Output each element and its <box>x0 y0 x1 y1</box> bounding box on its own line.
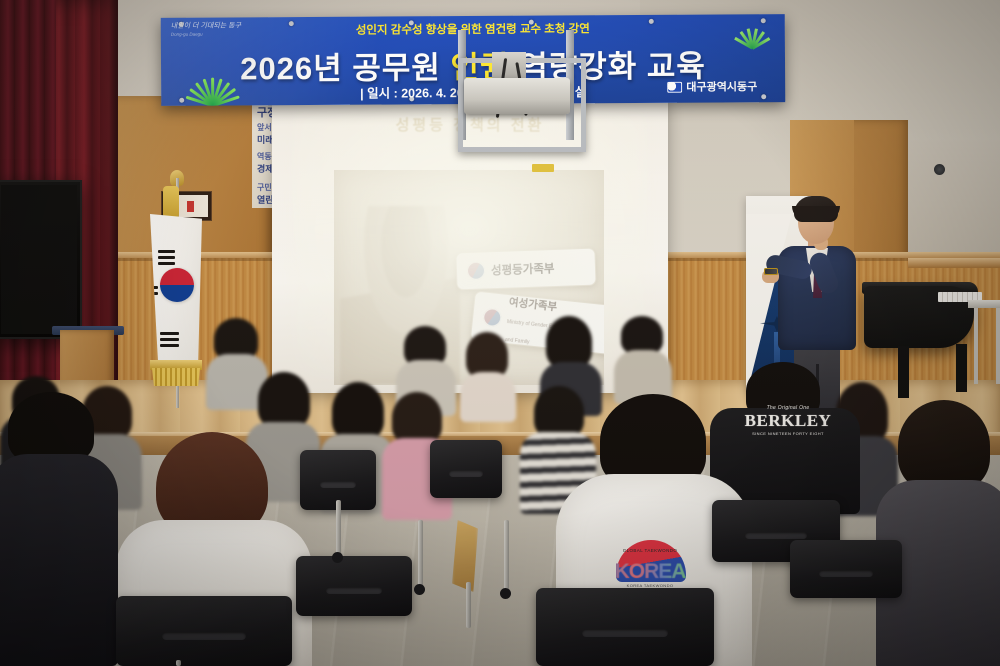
ceiling-projector <box>464 78 570 114</box>
city-logo-icon <box>667 81 682 92</box>
banner-title-part1: 2026년 공무원 <box>240 50 441 86</box>
audience-person-dark-suit <box>0 392 118 666</box>
berkley-shirt-print: The Original One BERKLEY SINCE NINETEEN … <box>740 405 836 436</box>
plaque-old-label-ko: 여성가족부 <box>508 296 557 313</box>
chair-leg <box>466 582 471 628</box>
chair-leg <box>504 520 509 592</box>
presentation-clicker <box>764 268 778 275</box>
korea-print-word: KOREA <box>602 560 698 584</box>
speaker-hair <box>794 196 838 222</box>
wall-panel-line-0: 앞서 <box>257 122 272 133</box>
berkley-print-bottom: SINCE NINETEEN FORTY EIGHT <box>740 431 836 436</box>
wall-ledge-right <box>908 258 1000 268</box>
projector-label <box>532 164 554 172</box>
chair <box>296 556 412 616</box>
piano-bench-leg <box>996 308 1000 384</box>
flag-fringe <box>152 368 200 386</box>
banner-organization: 대구광역시동구 <box>667 78 757 95</box>
audience-person <box>460 332 516 414</box>
plaque-new-label: 성평등가족부 <box>491 260 555 278</box>
chair <box>430 440 502 498</box>
chair-leg <box>336 500 341 556</box>
banner-organization-label: 대구광역시동구 <box>686 78 757 94</box>
plaque-new-ministry: 성평등가족부 <box>455 248 596 291</box>
monitor-screen <box>1 185 77 334</box>
chair <box>790 540 902 598</box>
wall-monitor[interactable] <box>0 180 82 339</box>
piano-leg <box>956 344 967 392</box>
audience-person <box>614 316 672 400</box>
piano-bench-leg <box>974 308 978 384</box>
chair-leg <box>176 660 181 666</box>
lecture-hall-photo: 구정 앞서 미래 역동 경제 구민 열린 성평등 정책의 전환 성평등가족부 여… <box>0 0 1000 666</box>
banner-subtitle: 성인지 감수성 향상을 위한 염건령 교수 초청 강연 <box>161 19 785 39</box>
projector-mount-bracket <box>492 52 526 78</box>
wall-recess-right <box>908 140 1000 260</box>
chair-foreground <box>116 596 292 666</box>
berkley-print-word: BERKLEY <box>740 411 836 431</box>
korea-print-top: GLOBAL TAEKWONDO <box>602 548 698 553</box>
chair-foot <box>414 584 425 595</box>
chair-foot <box>500 588 511 599</box>
audience-person-right <box>876 400 1000 666</box>
projector-lens-icon <box>934 164 945 175</box>
government-emblem-icon <box>482 308 502 328</box>
chair-foot <box>332 552 343 563</box>
piano-bench <box>968 300 1000 308</box>
wall-panel-line-4: 구민 <box>257 182 272 193</box>
chair-foreground <box>536 588 714 666</box>
wall-panel-line-2: 역동 <box>257 151 272 162</box>
piano-leg <box>898 346 909 398</box>
chair-leg <box>418 520 423 588</box>
government-emblem-icon <box>467 261 486 280</box>
